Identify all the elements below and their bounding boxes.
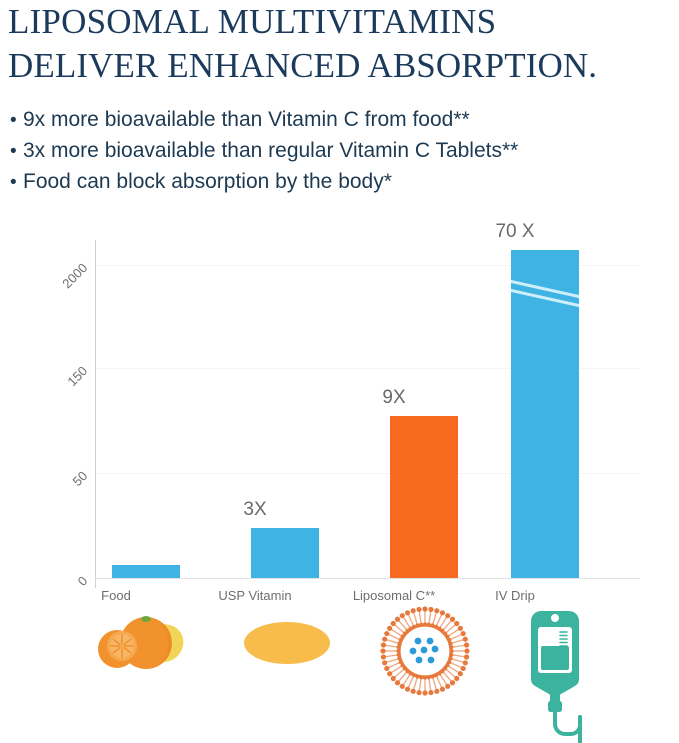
list-item: • 9x more bioavailable than Vitamin C fr… <box>10 105 675 136</box>
x-axis-label-usp-vitamin: USP Vitamin <box>206 588 304 603</box>
y-axis-tick-label: 150 <box>41 363 90 412</box>
plot-area <box>95 248 640 578</box>
bar-food[interactable] <box>112 565 180 578</box>
x-axis-label-food: Food <box>82 588 150 603</box>
headline-line-1: LIPOSOMAL MULTIVITAMINS <box>8 0 676 44</box>
bar-usp-vitamin[interactable] <box>251 528 319 578</box>
icon-slot-iv-drip <box>505 605 605 743</box>
y-axis-tick-label: 2000 <box>41 260 90 309</box>
bar-iv-drip[interactable] <box>511 250 579 578</box>
bar-liposomal-c[interactable] <box>390 416 458 578</box>
x-axis-line <box>95 578 640 579</box>
liposome-icon <box>375 605 475 697</box>
bullet-marker-icon: • <box>10 137 23 167</box>
bar-value-label-usp: 3X <box>221 499 289 521</box>
list-item-label: 9x more bioavailable than Vitamin C from… <box>23 105 470 135</box>
headline-line-2: DELIVER ENHANCED ABSORPTION. <box>8 44 676 88</box>
list-item: • Food can block absorption by the body* <box>10 167 675 198</box>
bullet-marker-icon: • <box>10 168 23 198</box>
x-axis-label-iv-drip: IV Drip <box>481 588 549 603</box>
y-axis-tick-label: 50 <box>41 468 90 517</box>
category-icon-row <box>0 605 679 743</box>
bar-value-label-iv-drip: 70 X <box>481 221 549 243</box>
axis-break-marks-icon <box>511 272 579 322</box>
list-item-label: Food can block absorption by the body* <box>23 167 392 197</box>
icon-slot-food <box>93 605 193 743</box>
x-axis-label-liposomal-c: Liposomal C** <box>340 588 448 603</box>
bullet-marker-icon: • <box>10 106 23 136</box>
bar-value-label-liposomal: 9X <box>360 387 428 409</box>
tablet-pill-icon <box>237 605 337 680</box>
citrus-fruit-icon <box>93 605 193 680</box>
list-item: • 3x more bioavailable than regular Vita… <box>10 136 675 167</box>
bioavailability-bar-chart: 2000 150 50 0 3X 9X 70 X Food USP Vitami… <box>0 210 679 610</box>
page-title: LIPOSOMAL MULTIVITAMINS DELIVER ENHANCED… <box>8 0 676 88</box>
benefits-list: • 9x more bioavailable than Vitamin C fr… <box>10 105 675 198</box>
iv-drip-bag-icon <box>505 605 605 743</box>
icon-slot-liposomal-c <box>375 605 475 743</box>
icon-slot-usp-vitamin <box>237 605 337 743</box>
list-item-label: 3x more bioavailable than regular Vitami… <box>23 136 518 166</box>
